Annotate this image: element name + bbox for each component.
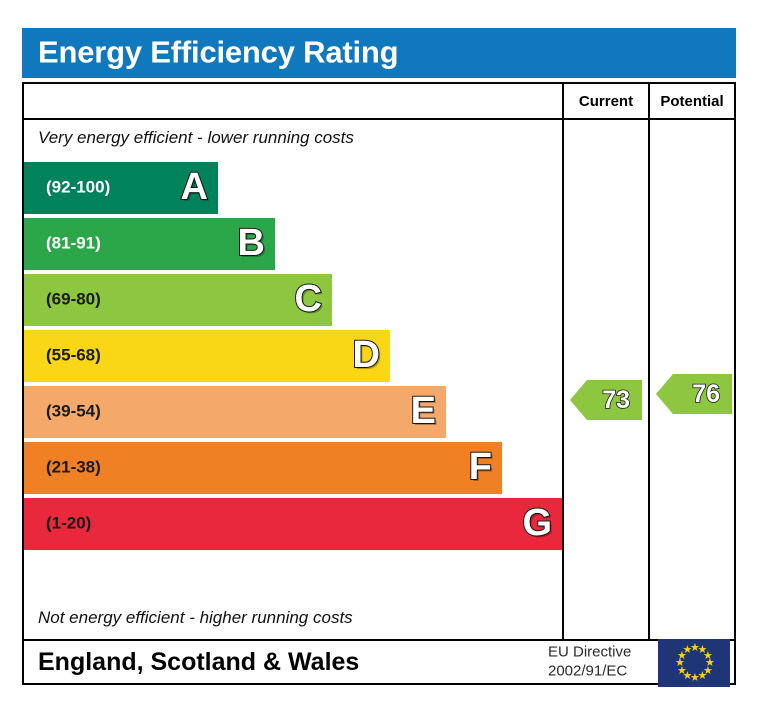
band-range-b: (81-91) (46, 234, 101, 254)
column-header-current: Current (564, 84, 648, 120)
band-letter-b: B (238, 224, 265, 262)
column-header-potential: Potential (650, 84, 734, 120)
band-range-f: (21-38) (46, 458, 101, 478)
potential-rating-arrow: 76 (656, 374, 732, 414)
energy-efficiency-rating-chart: Energy Efficiency Rating Current Potenti… (0, 0, 760, 715)
rating-band-e: (39-54)E (24, 386, 446, 438)
rating-table: Current Potential Very energy efficient … (22, 82, 736, 685)
column-divider-current (562, 84, 564, 639)
band-range-e: (39-54) (46, 402, 101, 422)
eu-directive-line2: 2002/91/EC (548, 662, 631, 681)
caption-efficient: Very energy efficient - lower running co… (38, 128, 354, 148)
column-divider-potential (648, 84, 650, 639)
rating-band-d: (55-68)D (24, 330, 390, 382)
rating-band-b: (81-91)B (24, 218, 275, 270)
rating-band-c: (69-80)C (24, 274, 332, 326)
band-letter-g: G (522, 504, 552, 542)
rating-band-a: (92-100)A (24, 162, 218, 214)
eu-flag-icon: ★★★★★★★★★★★★ (658, 639, 730, 687)
potential-rating-value: 76 (692, 382, 720, 407)
chart-footer: England, Scotland & Wales EU Directive 2… (24, 641, 734, 685)
rating-band-f: (21-38)F (24, 442, 502, 494)
band-letter-e: E (411, 392, 436, 430)
band-letter-d: D (353, 336, 380, 374)
eu-directive-text: EU Directive 2002/91/EC (548, 644, 631, 682)
caption-inefficient: Not energy efficient - higher running co… (38, 608, 353, 628)
footer-region-label: England, Scotland & Wales (38, 648, 359, 677)
band-range-g: (1-20) (46, 514, 91, 534)
band-range-d: (55-68) (46, 346, 101, 366)
eu-flag-star: ★ (683, 646, 691, 654)
page-title: Energy Efficiency Rating (38, 34, 398, 70)
band-letter-a: A (181, 168, 208, 206)
band-letter-c: C (295, 280, 322, 318)
band-range-c: (69-80) (46, 290, 101, 310)
eu-directive-line1: EU Directive (548, 644, 631, 663)
band-letter-f: F (469, 448, 492, 486)
chart-title-bar: Energy Efficiency Rating (22, 28, 736, 78)
current-rating-value: 73 (602, 388, 630, 413)
band-range-a: (92-100) (46, 178, 110, 198)
rating-band-g: (1-20)G (24, 498, 562, 550)
current-rating-arrow: 73 (570, 380, 642, 420)
